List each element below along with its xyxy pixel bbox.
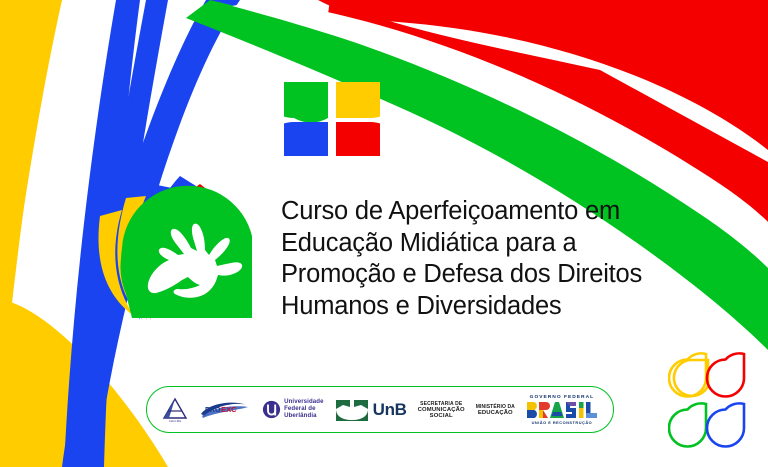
mec-line-1: MINISTÉRIO DA xyxy=(476,404,515,410)
proexc-swoosh-icon: PRO EXC xyxy=(199,399,251,421)
gov-federal-top-text: GOVERNO FEDERAL xyxy=(530,395,594,400)
logo-unb: UnB xyxy=(335,393,407,427)
logo-mec-text: MINISTÉRIO DA EDUCAÇÃO xyxy=(476,404,515,416)
ufu-line-3: Uberlândia xyxy=(284,413,323,420)
logo-ufu: Universidade Federal de Uberlândia xyxy=(262,393,323,427)
secom-line-3: SOCIAL xyxy=(418,413,465,419)
unb-wordmark: UnB xyxy=(373,400,407,420)
logo-secom: SECRETARIA DE COMUNICAÇÃO SOCIAL xyxy=(418,393,465,427)
leaf-blue xyxy=(284,122,328,156)
logo-secom-text: SECRETARIA DE COMUNICAÇÃO SOCIAL xyxy=(418,401,465,419)
drop-green-outline xyxy=(669,403,706,446)
logo-governo-federal: GOVERNO FEDERAL xyxy=(526,393,598,427)
unb-mark-icon xyxy=(335,398,369,422)
human-rights-hand-dove-logo xyxy=(92,170,268,330)
leaf-red xyxy=(336,122,380,156)
proexc-text-exc: EXC xyxy=(221,405,237,414)
mec-line-2: EDUCAÇÃO xyxy=(476,410,515,416)
drop-blue-outline xyxy=(707,403,744,446)
proexc-text-pro: PRO xyxy=(205,405,221,414)
page-title: Curso de Aperfeiçoamento em Educação Mid… xyxy=(281,196,691,322)
logo-ufu-text: Universidade Federal de Uberlândia xyxy=(284,399,323,419)
drop-red-outline xyxy=(707,353,744,396)
course-banner: Curso de Aperfeiçoamento em Educação Mid… xyxy=(0,0,768,467)
logo-cefet: Cefet-MG xyxy=(162,393,188,427)
partner-logo-bar: Cefet-MG PRO EXC Universidade Federal de xyxy=(146,386,614,433)
secom-line-2: COMUNICAÇÃO xyxy=(418,407,465,413)
leaf-green xyxy=(284,82,328,118)
outline-drop-grid xyxy=(668,348,760,452)
drop-yellow xyxy=(674,360,708,396)
brasil-wordmark-icon xyxy=(526,401,598,419)
cefet-triangle-icon xyxy=(162,397,188,420)
ufu-circle-icon xyxy=(262,400,281,419)
secom-line-1: SECRETARIA DE xyxy=(418,401,465,407)
logo-mec: MINISTÉRIO DA EDUCAÇÃO xyxy=(476,393,515,427)
gov-federal-bottom-text: UNIÃO E RECONSTRUÇÃO xyxy=(532,420,593,425)
logo-cefet-caption: Cefet-MG xyxy=(169,420,181,423)
leaf-yellow xyxy=(336,82,380,118)
four-leaf-mark xyxy=(284,82,380,156)
logo-proexc: PRO EXC xyxy=(199,393,251,427)
